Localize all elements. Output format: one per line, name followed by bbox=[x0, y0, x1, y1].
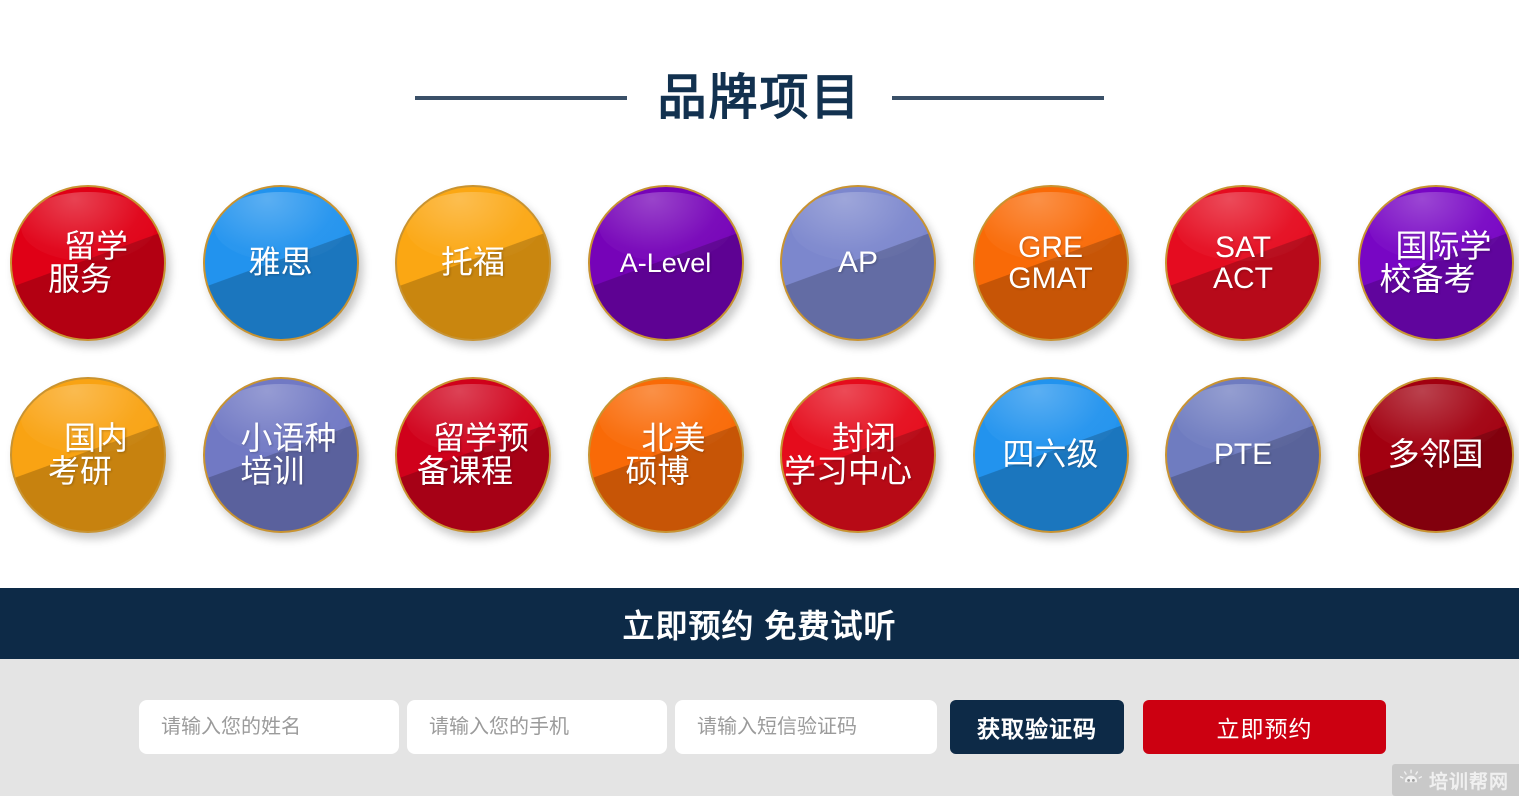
program-bubble[interactable]: 北美硕博 bbox=[588, 377, 744, 533]
program-bubble-label-line1: 托福 bbox=[441, 246, 505, 279]
sms-code-input[interactable] bbox=[675, 700, 937, 754]
cta-banner: 立即预约 免费试听 bbox=[0, 588, 1519, 659]
program-bubble[interactable]: PTE bbox=[1165, 377, 1321, 533]
program-bubble-grid: 留学服务雅思托福A-LevelAPGREGMATSATACT国际学校备考 国内考… bbox=[10, 185, 1519, 535]
program-bubble-label: 封闭学习中心 bbox=[792, 422, 924, 489]
program-bubble-label-line1: GRE bbox=[1008, 232, 1092, 263]
program-bubble[interactable]: 多邻国 bbox=[1358, 377, 1514, 533]
program-bubble-label-line1: 四六级 bbox=[1002, 438, 1098, 471]
program-bubble-label: A-Level bbox=[618, 249, 714, 277]
program-bubble[interactable]: 国际学校备考 bbox=[1358, 185, 1514, 341]
program-bubble[interactable]: A-Level bbox=[588, 185, 744, 341]
program-bubble-label-line1: PTE bbox=[1214, 439, 1272, 470]
program-bubble-label: 留学服务 bbox=[54, 230, 122, 297]
program-bubble[interactable]: SATACT bbox=[1165, 185, 1321, 341]
program-bubble-label: 多邻国 bbox=[1385, 438, 1485, 471]
program-bubble-label: 北美硕博 bbox=[631, 422, 699, 489]
cta-banner-text: 立即预约 免费试听 bbox=[623, 601, 897, 647]
program-bubble[interactable]: 留学预备课程 bbox=[395, 377, 551, 533]
program-bubble-label-line2: 备课程 bbox=[417, 455, 513, 488]
program-bubble-label-line1: 留学预 bbox=[433, 422, 529, 455]
program-bubble[interactable]: AP bbox=[780, 185, 936, 341]
program-bubble-label-line1: 国内 bbox=[64, 422, 128, 455]
program-bubble-label: 国内考研 bbox=[54, 422, 122, 489]
program-bubble[interactable]: 封闭学习中心 bbox=[780, 377, 936, 533]
program-bubble[interactable]: 小语种培训 bbox=[203, 377, 359, 533]
program-bubble[interactable]: GREGMAT bbox=[973, 185, 1129, 341]
program-bubble-label: 国际学校备考 bbox=[1385, 230, 1485, 297]
heading-rule-right bbox=[892, 96, 1104, 100]
program-bubble-label-line2: 培训 bbox=[224, 455, 320, 488]
program-bubble-label: 四六级 bbox=[1000, 438, 1100, 471]
program-bubble-label-line2: 硕博 bbox=[625, 455, 689, 488]
program-bubble-label-line1: SAT bbox=[1213, 232, 1273, 263]
submit-booking-button[interactable]: 立即预约 bbox=[1143, 700, 1386, 754]
phone-input[interactable] bbox=[407, 700, 667, 754]
page-title: 品牌项目 bbox=[657, 74, 861, 123]
get-sms-code-button[interactable]: 获取验证码 bbox=[950, 700, 1124, 754]
program-bubble-label-line1: 多邻国 bbox=[1387, 438, 1483, 471]
program-bubble-label: SATACT bbox=[1211, 232, 1275, 294]
program-bubble-label: GREGMAT bbox=[1006, 232, 1094, 294]
program-bubble-label: AP bbox=[836, 247, 880, 278]
name-input[interactable] bbox=[139, 700, 399, 754]
booking-form-strip: 获取验证码 立即预约 bbox=[0, 659, 1519, 796]
heading-rule-left bbox=[415, 96, 627, 100]
program-bubble-label-line2: 学习中心 bbox=[784, 455, 912, 488]
program-bubble-label: 留学预备课程 bbox=[423, 422, 523, 489]
program-bubble-label-line1: 留学 bbox=[64, 230, 128, 263]
program-bubble-label-line2: ACT bbox=[1213, 263, 1273, 294]
program-bubble[interactable]: 留学服务 bbox=[10, 185, 166, 341]
program-bubble-label: 雅思 bbox=[246, 246, 314, 279]
program-bubble-label: PTE bbox=[1212, 439, 1274, 470]
program-bubble-label-line1: 封闭 bbox=[800, 422, 928, 455]
site-watermark: 培训帮网 bbox=[1392, 764, 1519, 796]
program-bubble-label-line1: 北美 bbox=[641, 422, 705, 455]
program-bubble-label-line2: 校备考 bbox=[1379, 263, 1475, 296]
sun-face-icon bbox=[1400, 769, 1422, 791]
program-row-1: 留学服务雅思托福A-LevelAPGREGMATSATACT国际学校备考 bbox=[10, 185, 1519, 341]
program-bubble-label-line2: GMAT bbox=[1008, 263, 1092, 294]
program-bubble[interactable]: 国内考研 bbox=[10, 377, 166, 533]
program-bubble[interactable]: 托福 bbox=[395, 185, 551, 341]
program-bubble[interactable]: 雅思 bbox=[203, 185, 359, 341]
program-bubble-label-line1: 小语种 bbox=[240, 422, 336, 455]
page-root: 品牌项目 留学服务雅思托福A-LevelAPGREGMATSATACT国际学校备… bbox=[0, 0, 1519, 804]
program-bubble-label: 小语种培训 bbox=[230, 422, 330, 489]
program-bubble-label-line1: AP bbox=[838, 247, 878, 278]
booking-form: 获取验证码 立即预约 bbox=[139, 700, 1386, 754]
program-bubble-label-line1: 国际学 bbox=[1395, 230, 1491, 263]
watermark-label: 培训帮网 bbox=[1429, 767, 1509, 794]
program-bubble[interactable]: 四六级 bbox=[973, 377, 1129, 533]
section-heading: 品牌项目 bbox=[0, 58, 1519, 138]
program-bubble-label-line1: A-Level bbox=[620, 249, 712, 277]
program-bubble-label: 托福 bbox=[439, 246, 507, 279]
program-bubble-label-line1: 雅思 bbox=[248, 246, 312, 279]
program-bubble-label-line2: 服务 bbox=[48, 263, 112, 296]
program-bubble-label-line2: 考研 bbox=[48, 455, 112, 488]
program-row-2: 国内考研小语种培训留学预备课程北美硕博封闭学习中心四六级PTE多邻国 bbox=[10, 377, 1519, 533]
